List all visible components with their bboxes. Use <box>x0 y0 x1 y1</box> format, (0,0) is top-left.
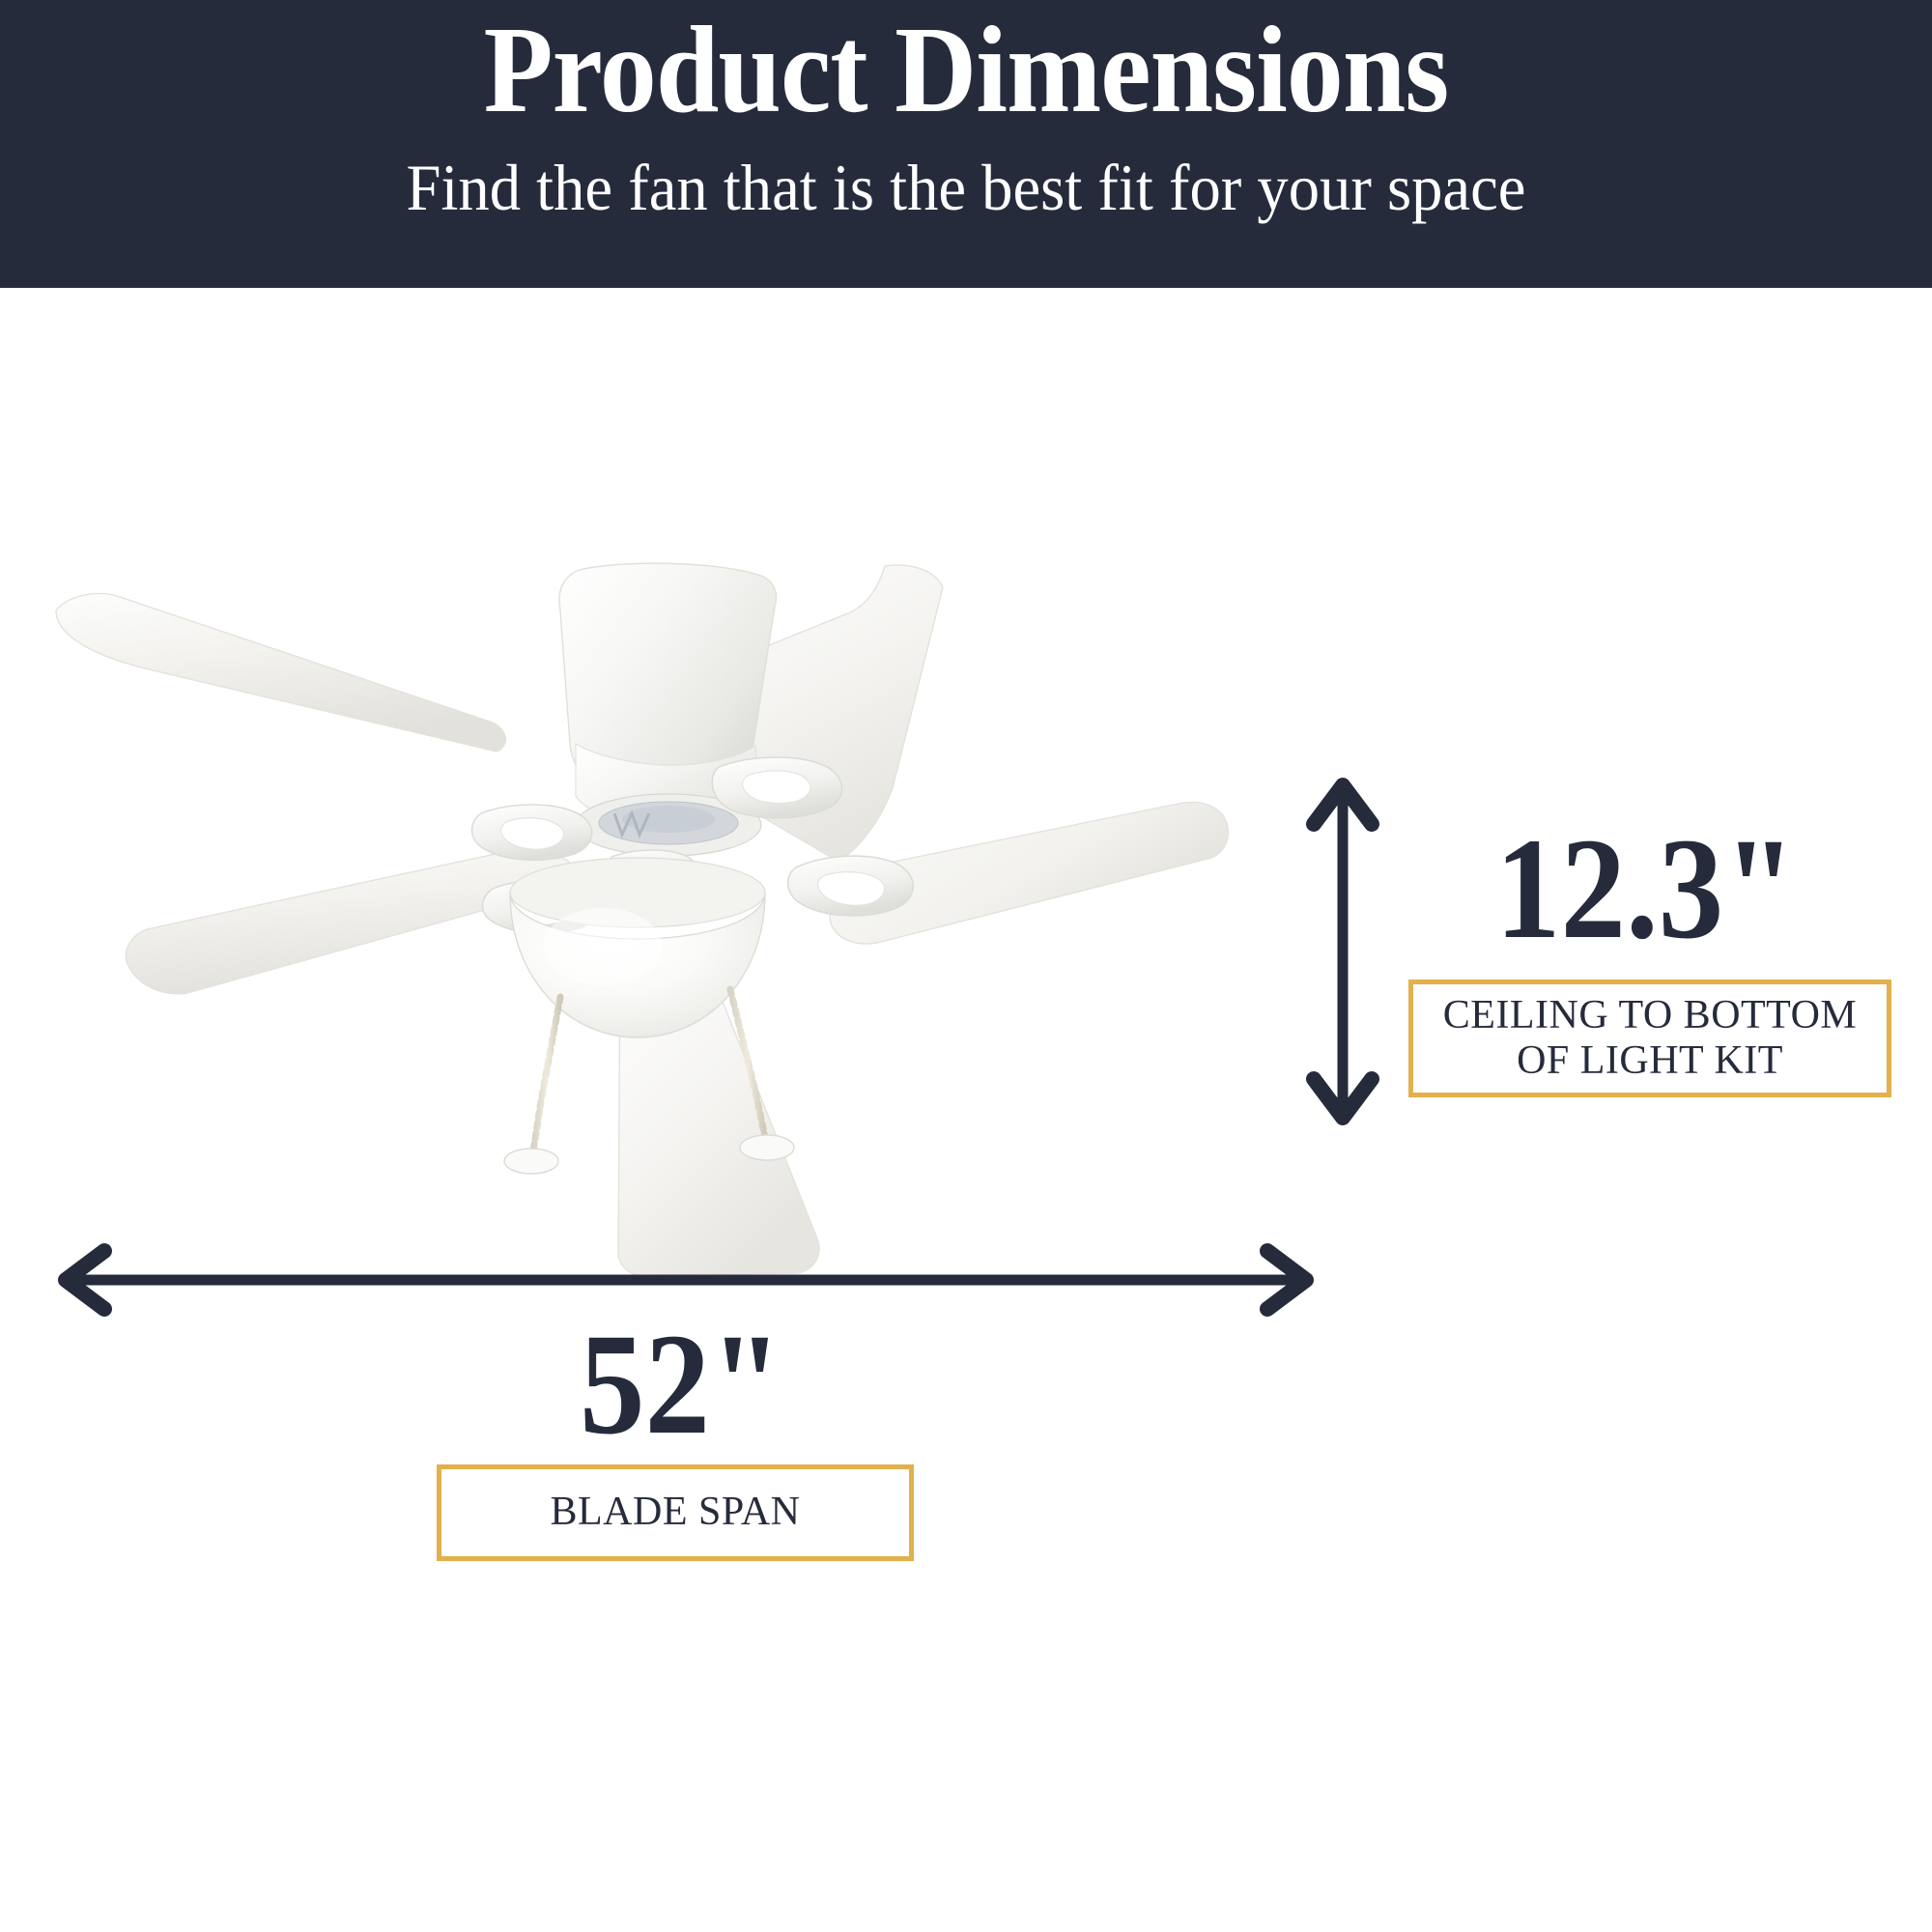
blade-span-dimension-value: 52" <box>580 1312 782 1457</box>
fan-light-kit <box>510 858 765 1037</box>
ceiling-fan-illustration <box>39 560 1236 1275</box>
height-dimension-arrow <box>1285 768 1401 1135</box>
page-subtitle: Find the fan that is the best fit for yo… <box>48 155 1884 220</box>
height-dimension-value: 12.3" <box>1495 816 1796 961</box>
height-dimension-label: CEILING TO BOTTOM OF LIGHT KIT <box>1443 993 1858 1084</box>
blade-span-callout-box: BLADE SPAN <box>437 1464 914 1561</box>
blade-span-label: BLADE SPAN <box>550 1490 800 1535</box>
fan-blade-upper-left <box>56 593 505 752</box>
page-title: Product Dimensions <box>77 8 1855 131</box>
height-label-line-2: OF LIGHT KIT <box>1517 1038 1783 1083</box>
height-dimension-callout-box: CEILING TO BOTTOM OF LIGHT KIT <box>1408 980 1891 1097</box>
product-dimensions-infographic: Product Dimensions Find the fan that is … <box>0 0 1932 1932</box>
height-label-line-1: CEILING TO BOTTOM <box>1443 993 1858 1037</box>
